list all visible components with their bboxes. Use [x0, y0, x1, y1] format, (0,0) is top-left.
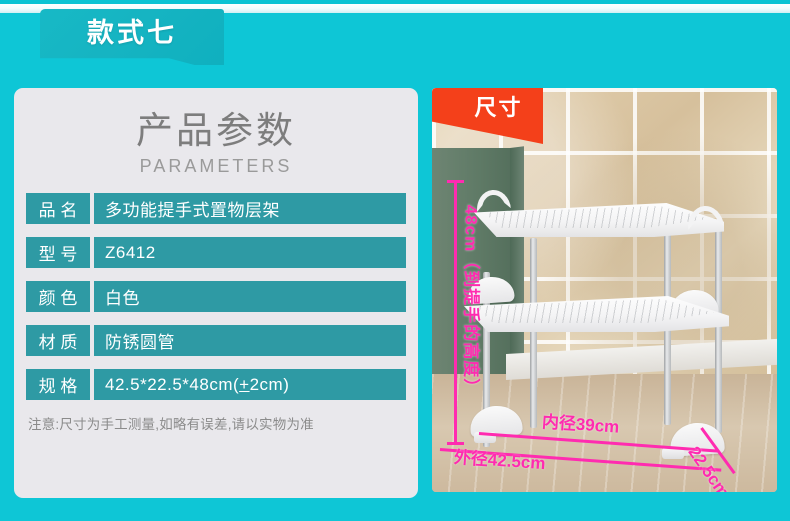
parameters-card: 产品参数 PARAMETERS 品 名 多功能提手式置物层架 型 号 Z6412…	[14, 88, 418, 498]
ribbon-label: 款式七	[87, 9, 177, 57]
size-prefix: 42.5*22.5*48cm(	[105, 375, 239, 395]
table-row: 材 质 防锈圆管	[26, 325, 406, 356]
spec-label: 规 格	[26, 369, 90, 400]
shelf-leg	[715, 228, 722, 433]
table-row: 规 格 42.5*22.5*48cm(+2cm)	[26, 369, 406, 400]
table-row: 颜 色 白色	[26, 281, 406, 312]
spec-label: 品 名	[26, 193, 90, 224]
page-subtitle: PARAMETERS	[14, 156, 418, 177]
table-row: 型 号 Z6412	[26, 237, 406, 268]
spec-value-size: 42.5*22.5*48cm(+2cm)	[94, 369, 406, 400]
measurement-note: 注意:尺寸为手工测量,如略有误差,请以实物为准	[14, 413, 418, 433]
spec-label: 颜 色	[26, 281, 90, 312]
spec-value: Z6412	[94, 237, 406, 268]
spec-value: 防锈圆管	[94, 325, 406, 356]
product-photo: 48cm（到提手的高度） 内径39cm 外径42.5cm 22.5cm 尺寸	[432, 88, 777, 492]
table-row: 品 名 多功能提手式置物层架	[26, 193, 406, 224]
shelf-leg	[530, 238, 537, 428]
size-tab-label: 尺寸	[452, 88, 522, 128]
shelf-handle-icon	[686, 204, 724, 230]
spec-value: 白色	[94, 281, 406, 312]
spec-label: 材 质	[26, 325, 90, 356]
size-suffix: 2cm)	[250, 375, 290, 395]
height-dimension-cap	[447, 180, 464, 183]
page-title: 产品参数	[14, 108, 418, 154]
plus-minus-symbol: +	[239, 375, 249, 395]
height-dimension-label: 48cm（到提手的高度）	[461, 186, 486, 416]
spec-table: 品 名 多功能提手式置物层架 型 号 Z6412 颜 色 白色 材 质 防锈圆管…	[14, 193, 418, 400]
height-dimension-line	[454, 180, 457, 445]
inner-width-dimension-label: 内径39cm	[541, 407, 620, 437]
style-ribbon-banner: 款式七	[40, 9, 224, 65]
spec-label: 型 号	[26, 237, 90, 268]
spec-value: 多功能提手式置物层架	[94, 193, 406, 224]
